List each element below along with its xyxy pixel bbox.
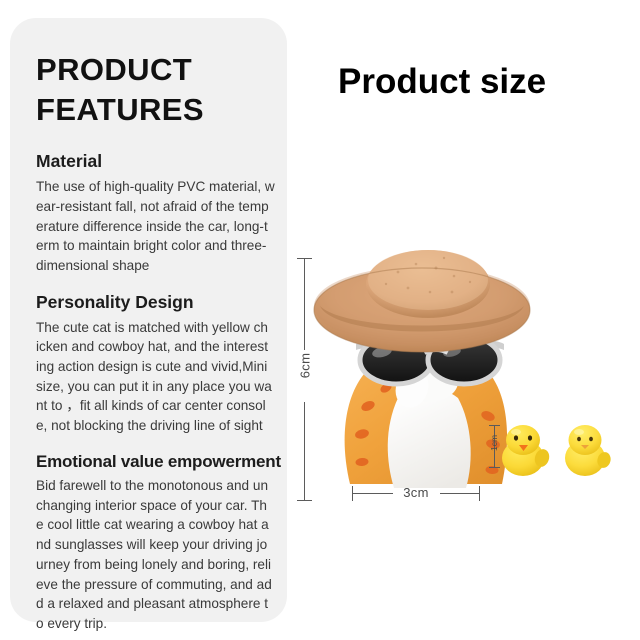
product-size-title: Product size <box>338 62 546 102</box>
dimension-line-left <box>353 493 393 494</box>
dimension-cap-bottom <box>297 500 312 501</box>
dimension-width-3cm: 3cm <box>352 484 480 504</box>
dimension-line-upper <box>304 258 305 350</box>
section-spacer <box>28 436 269 451</box>
product-features-title: PRODUCT FEATURES <box>36 50 241 129</box>
feature-section-material: Material The use of high-quality PVC mat… <box>36 151 286 275</box>
dimension-line-right <box>440 493 479 494</box>
product-features-card: PRODUCT FEATURES Material The use of hig… <box>10 18 287 622</box>
feature-body-personality-design: The cute cat is matched with yellow ch i… <box>36 318 286 436</box>
duckling-right <box>565 425 612 476</box>
feature-body-material: The use of high-quality PVC material, w … <box>36 177 286 276</box>
dimension-line-lower <box>304 402 305 500</box>
feature-section-emotional-value: Emotional value empowerment Bid farewell… <box>36 451 286 634</box>
feature-body-emotional-value: Bid farewell to the monotonous and un ch… <box>36 476 286 634</box>
dimension-label-width: 3cm <box>394 485 438 500</box>
feature-heading-material: Material <box>36 151 286 173</box>
feature-heading-personality-design: Personality Design <box>36 292 286 314</box>
section-spacer <box>28 276 269 292</box>
feature-heading-emotional-value: Emotional value empowerment <box>36 451 286 472</box>
duckling-left <box>502 425 551 476</box>
feature-section-personality-design: Personality Design The cute cat is match… <box>36 292 286 436</box>
dimension-label-height: 6cm <box>298 346 313 386</box>
duckling-figures <box>497 418 617 478</box>
product-size-diagram: 6cm <box>292 240 632 520</box>
dimension-cap-right <box>479 486 480 501</box>
